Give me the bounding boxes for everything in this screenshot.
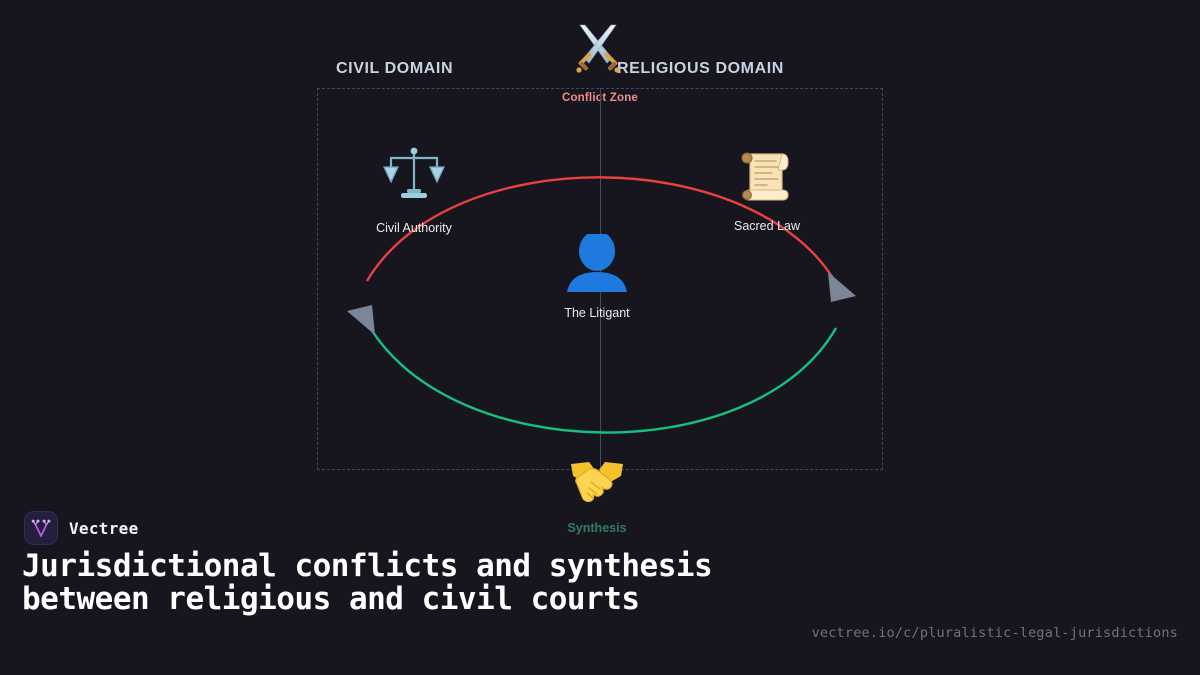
scroll-icon	[677, 146, 857, 209]
source-url: vectree.io/c/pluralistic-legal-jurisdict…	[812, 625, 1178, 641]
vectree-logo-glyph	[30, 517, 52, 539]
person-bust-icon	[507, 234, 687, 292]
footer: Vectree Jurisdictional conflicts and syn…	[0, 500, 1200, 675]
diagram-stage: CIVIL DOMAIN RELIGIOUS DOMAIN	[0, 0, 1200, 560]
balance-scale-icon	[324, 146, 504, 211]
node-civil-authority[interactable]: Civil Authority	[324, 146, 504, 235]
crossed-swords-glyph	[572, 22, 624, 74]
civil-domain-label: CIVIL DOMAIN	[336, 60, 453, 78]
node-litigant[interactable]: The Litigant	[507, 234, 687, 320]
node-label-civil-authority: Civil Authority	[324, 221, 504, 235]
node-label-litigant: The Litigant	[507, 306, 687, 320]
node-sacred-law[interactable]: Sacred Law	[677, 146, 857, 233]
vectree-logo-icon	[24, 511, 58, 545]
screenshot-canvas: CIVIL DOMAIN RELIGIOUS DOMAIN	[0, 0, 1200, 675]
balance-scale-glyph	[383, 146, 445, 204]
religious-domain-label: RELIGIOUS DOMAIN	[617, 60, 784, 78]
brand-name: Vectree	[69, 519, 139, 538]
scroll-glyph	[738, 146, 796, 202]
page-title: Jurisdictional conflicts and synthesis b…	[22, 550, 782, 615]
handshake-glyph	[569, 458, 625, 502]
crossed-swords-icon	[572, 22, 624, 82]
brand: Vectree	[24, 511, 139, 545]
node-label-sacred-law: Sacred Law	[677, 219, 857, 233]
